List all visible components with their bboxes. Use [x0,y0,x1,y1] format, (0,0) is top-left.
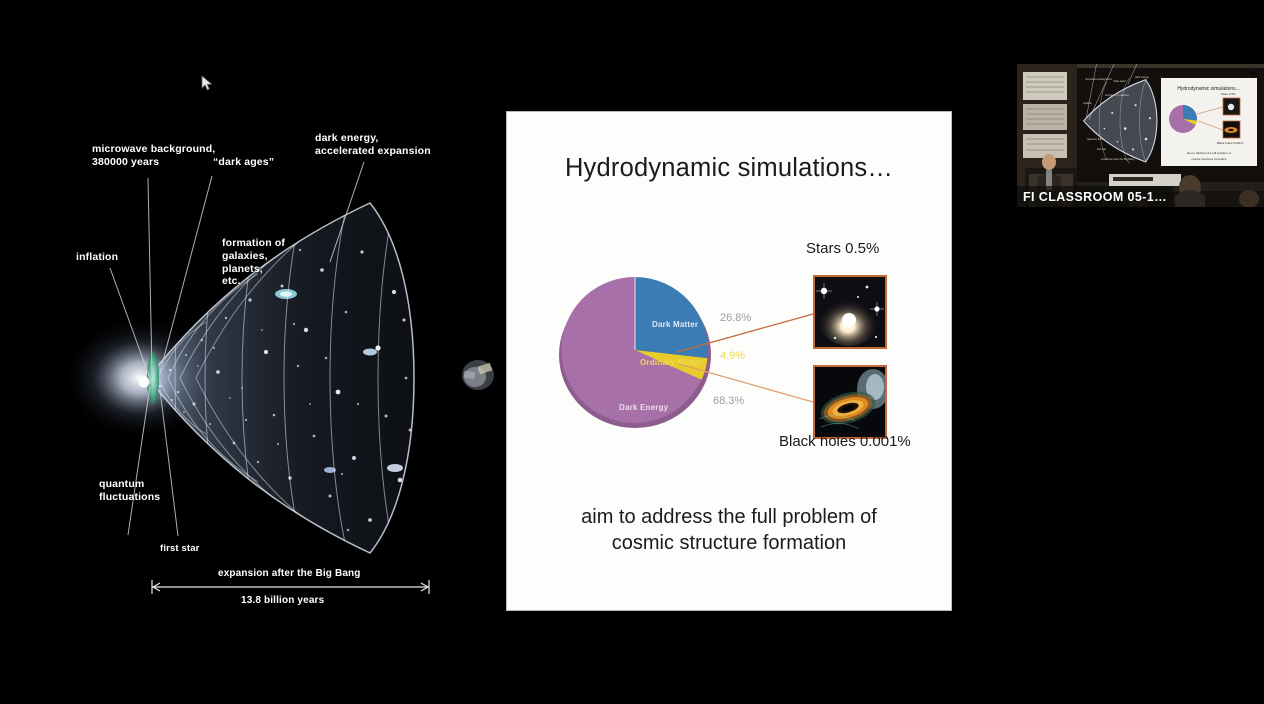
label-quantum-fluctuations: quantum fluctuations [99,478,160,504]
svg-text:expansion after the Big Bang: expansion after the Big Bang [1101,157,1135,161]
svg-text:quantum fluct.: quantum fluct. [1087,137,1104,141]
svg-text:formation of galaxies: formation of galaxies [1105,93,1130,97]
slide-closing-statement: aim to address the full problem of cosmi… [507,504,951,557]
scale-bar-duration: 13.8 billion years [241,595,324,607]
scale-bar-caption: expansion after the Big Bang [218,568,361,580]
svg-text:dark energy: dark energy [1135,75,1149,79]
black-hole-thumbnail [813,365,887,439]
screen-canvas: microwave background, 380000 years “dark… [0,0,1264,704]
galaxy-thumbnail [813,275,887,349]
cosmology-diagram: microwave background, 380000 years “dark… [0,0,500,704]
label-microwave-background: microwave background, 380000 years [92,143,215,169]
svg-text:cosmic structure formation: cosmic structure formation [1191,157,1227,161]
label-inflation: inflation [76,251,118,264]
presentation-slide: Hydrodynamic simulations… Dark Matter Or… [507,112,951,610]
feed-title-label: FI CLASSROOM 05-1… [1017,186,1173,207]
label-first-star: first star [160,543,200,555]
svg-text:first star: first star [1097,147,1106,151]
svg-text:microwave background: microwave background [1085,77,1112,81]
svg-text:Black holes 0.001%: Black holes 0.001% [1217,141,1244,145]
label-formation-of-galaxies: formation of galaxies, planets, etc. [222,237,285,288]
svg-text:aim to address the full proble: aim to address the full problem of [1187,151,1232,155]
label-dark-ages: “dark ages” [213,156,274,169]
label-dark-energy: dark energy, accelerated expansion [315,132,431,158]
mouse-cursor [201,75,213,92]
svg-text:Stars 0.5%: Stars 0.5% [1221,92,1236,96]
closing-line-2: cosmic structure formation [507,530,951,556]
expansion-scale-bar [152,580,429,594]
black-holes-callout-label: Black holes 0.001% [779,433,911,450]
closing-line-1: aim to address the full problem of [507,504,951,530]
stars-callout-label: Stars 0.5% [806,240,879,257]
svg-text:"dark ages": "dark ages" [1113,79,1126,83]
svg-text:inflation: inflation [1083,101,1092,105]
satellite-icon [462,360,494,390]
